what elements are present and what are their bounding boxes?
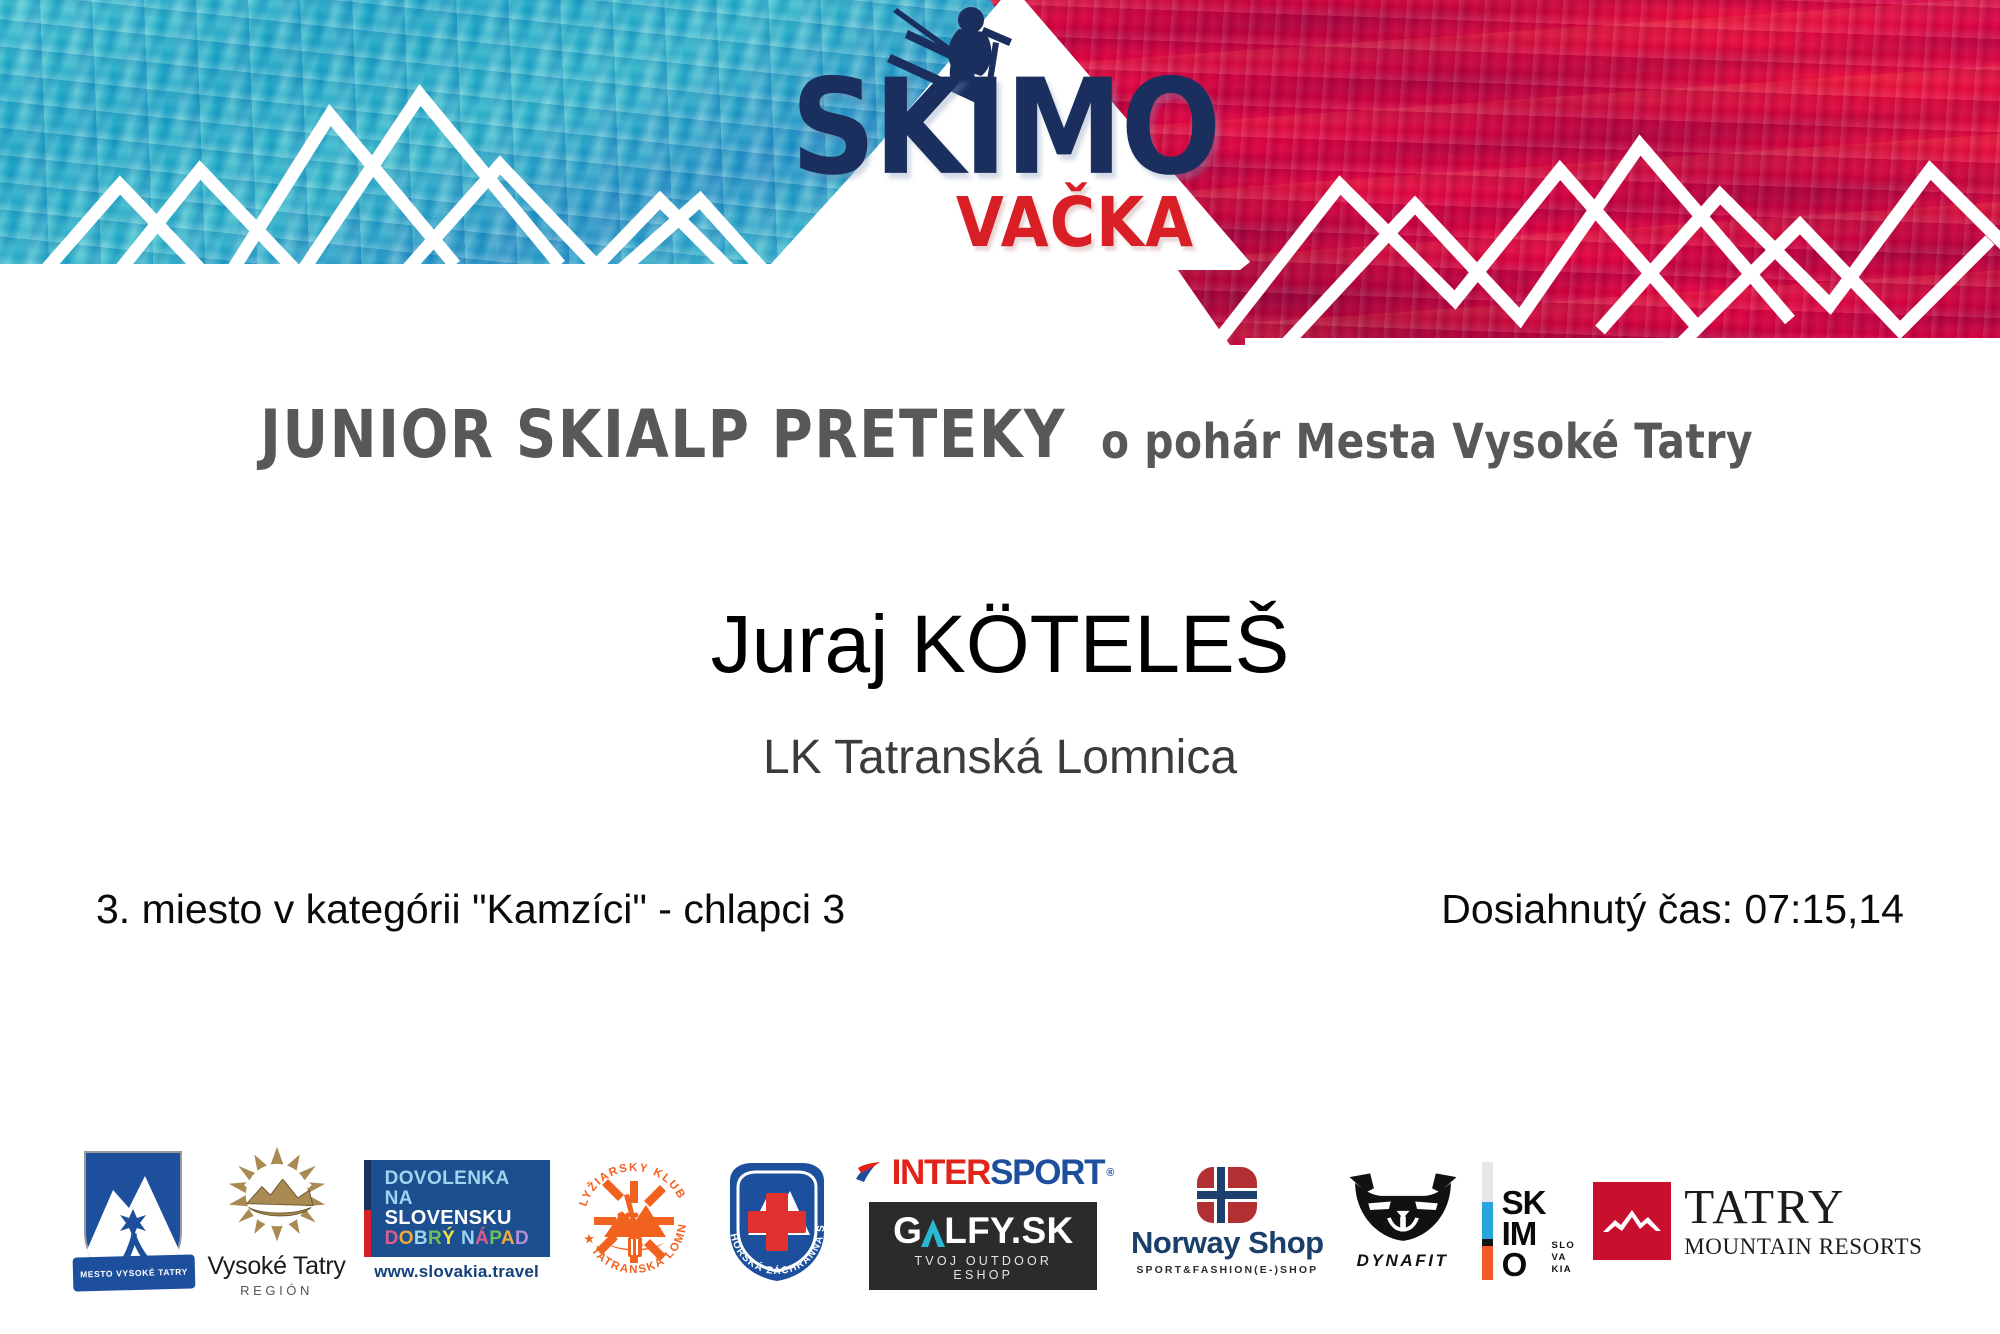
- skimo-sk-v3: KIA: [1551, 1264, 1575, 1276]
- skimo-sk-l1: SK: [1502, 1187, 1546, 1218]
- galfy-wordmark: GLFY.SK: [893, 1212, 1073, 1249]
- vysoke-tatry-sub: REGIÓN: [240, 1283, 313, 1298]
- sponsor-intersport-galfy-group: INTERSPORT® GLFY.SK TVOJ OUTDOOR ESHOP: [845, 1134, 1122, 1309]
- vysoke-tatry-name: Vysoké Tatry: [207, 1252, 345, 1281]
- norway-shop-name: Norway Shop: [1131, 1225, 1324, 1261]
- norway-shop-sub: SPORT&FASHION(E-)SHOP: [1136, 1264, 1318, 1276]
- dynafit-wordmark: DYNAFIT: [1357, 1251, 1449, 1271]
- skimo-slovakia-letters: SK IM O: [1502, 1187, 1546, 1280]
- sponsor-tatry-mountain-resorts: TATRY MOUNTAIN RESORTS: [1584, 1134, 1931, 1309]
- event-title-sub: o pohár Mesta Vysoké Tatry: [1101, 415, 1753, 470]
- skimo-sk-l3: O: [1502, 1249, 1546, 1280]
- galfy-peak-icon: [920, 1218, 946, 1248]
- crest-ribbon: MESTO VYSOKÉ TATRY: [73, 1254, 196, 1291]
- intersport-registered: ®: [1106, 1167, 1113, 1179]
- result-time: Dosiahnutý čas: 07:15,14: [1441, 886, 1904, 933]
- skimo-sk-v2: VA: [1551, 1252, 1575, 1264]
- recipient-name: Juraj KÖTELEŠ: [0, 598, 2000, 692]
- intersport-word-a: INTER: [892, 1153, 991, 1193]
- intersport-swoosh-icon: [854, 1160, 888, 1186]
- recipient-club: LK Tatranská Lomnica: [0, 730, 2000, 785]
- edelweiss-mountain-icon: [218, 1145, 336, 1249]
- intersport-wordmark: INTERSPORT®: [854, 1153, 1113, 1193]
- skimo-slovakia-country: SLO VA KIA: [1551, 1240, 1575, 1280]
- sponsor-horska-zachranna-sluzba: HORSKÁ ZÁCHRANNÁ SLUŽBA: [709, 1134, 845, 1309]
- tmr-subtitle: MOUNTAIN RESORTS: [1684, 1234, 1922, 1260]
- sponsor-norway-shop: Norway Shop SPORT&FASHION(E-)SHOP: [1122, 1134, 1333, 1309]
- sponsor-slovakia-travel: DOVOLENKA NA SLOVENSKU DOBRÝ NÁPAD www.s…: [355, 1134, 559, 1309]
- norway-flag-icon: [1195, 1167, 1259, 1223]
- galfy-box: GLFY.SK TVOJ OUTDOOR ESHOP: [869, 1202, 1097, 1290]
- skimo-vacka-logo: SKIMO VAČKA: [735, 0, 1275, 345]
- slovakia-travel-line3: DOBRÝ NÁPAD: [385, 1229, 540, 1250]
- tmr-mountain-icon: [1593, 1182, 1671, 1260]
- lyziarsky-klub-icon: LYŽIARSKY KLUB ★ TATRANSKÁ LOMNICA ★: [568, 1155, 700, 1287]
- skimo-sk-v1: SLO: [1551, 1240, 1575, 1252]
- mesto-vysoke-tatry-crest-icon: MESTO VYSOKÉ TATRY: [77, 1146, 189, 1296]
- sponsor-dynafit: DYNAFIT: [1333, 1134, 1473, 1309]
- galfy-tagline: TVOJ OUTDOOR ESHOP: [885, 1254, 1081, 1282]
- sponsor-vysoke-tatry-region: Vysoké Tatry REGIÓN: [198, 1134, 354, 1309]
- galfy-word-b: LFY.SK: [944, 1210, 1073, 1251]
- horska-zachranna-sluzba-icon: HORSKÁ ZÁCHRANNÁ SLUŽBA: [718, 1157, 836, 1285]
- event-title-row: JUNIOR SKIALP PRETEKY o pohár Mesta Vyso…: [0, 410, 2000, 473]
- sponsor-mesto-vysoke-tatry: MESTO VYSOKÉ TATRY: [68, 1134, 198, 1309]
- skimo-sk-l2: IM: [1502, 1218, 1546, 1249]
- sponsor-logo-strip: MESTO VYSOKÉ TATRY Vysoké Tatry REGIÓN: [0, 1126, 2000, 1316]
- skimo-wordmark: SKIMO: [735, 61, 1275, 193]
- sponsor-lyziarsky-klub-tatranska-lomnica: LYŽIARSKY KLUB ★ TATRANSKÁ LOMNICA ★: [559, 1134, 709, 1309]
- intersport-word-b: SPORT: [990, 1153, 1104, 1193]
- sponsor-skimo-slovakia: SK IM O SLO VA KIA: [1473, 1134, 1585, 1309]
- skimo-slovakia-colorbar: [1482, 1162, 1493, 1280]
- tmr-wordmark: TATRY: [1684, 1182, 1922, 1231]
- result-placement: 3. miesto v kategórii "Kamzíci" - chlapc…: [96, 886, 845, 933]
- slovakia-travel-box: DOVOLENKA NA SLOVENSKU DOBRÝ NÁPAD: [364, 1160, 550, 1258]
- certificate-page: SKIMO VAČKA JUNIOR SKIALP PRETEKY o pohá…: [0, 0, 2000, 1334]
- slovakia-travel-line1: DOVOLENKA NA: [385, 1169, 540, 1209]
- lynx-head-icon: [1342, 1171, 1464, 1247]
- slovakia-travel-line2: SLOVENSKU: [385, 1208, 540, 1229]
- galfy-word-a: G: [893, 1210, 922, 1251]
- header-banner: SKIMO VAČKA: [0, 0, 2000, 345]
- vacka-wordmark: VAČKA: [875, 189, 1275, 257]
- event-title-main: JUNIOR SKIALP PRETEKY: [260, 396, 1066, 473]
- crest-ribbon-text: MESTO VYSOKÉ TATRY: [80, 1267, 188, 1280]
- slovakia-travel-url: www.slovakia.travel: [374, 1262, 539, 1282]
- result-row: 3. miesto v kategórii "Kamzíci" - chlapc…: [0, 886, 2000, 933]
